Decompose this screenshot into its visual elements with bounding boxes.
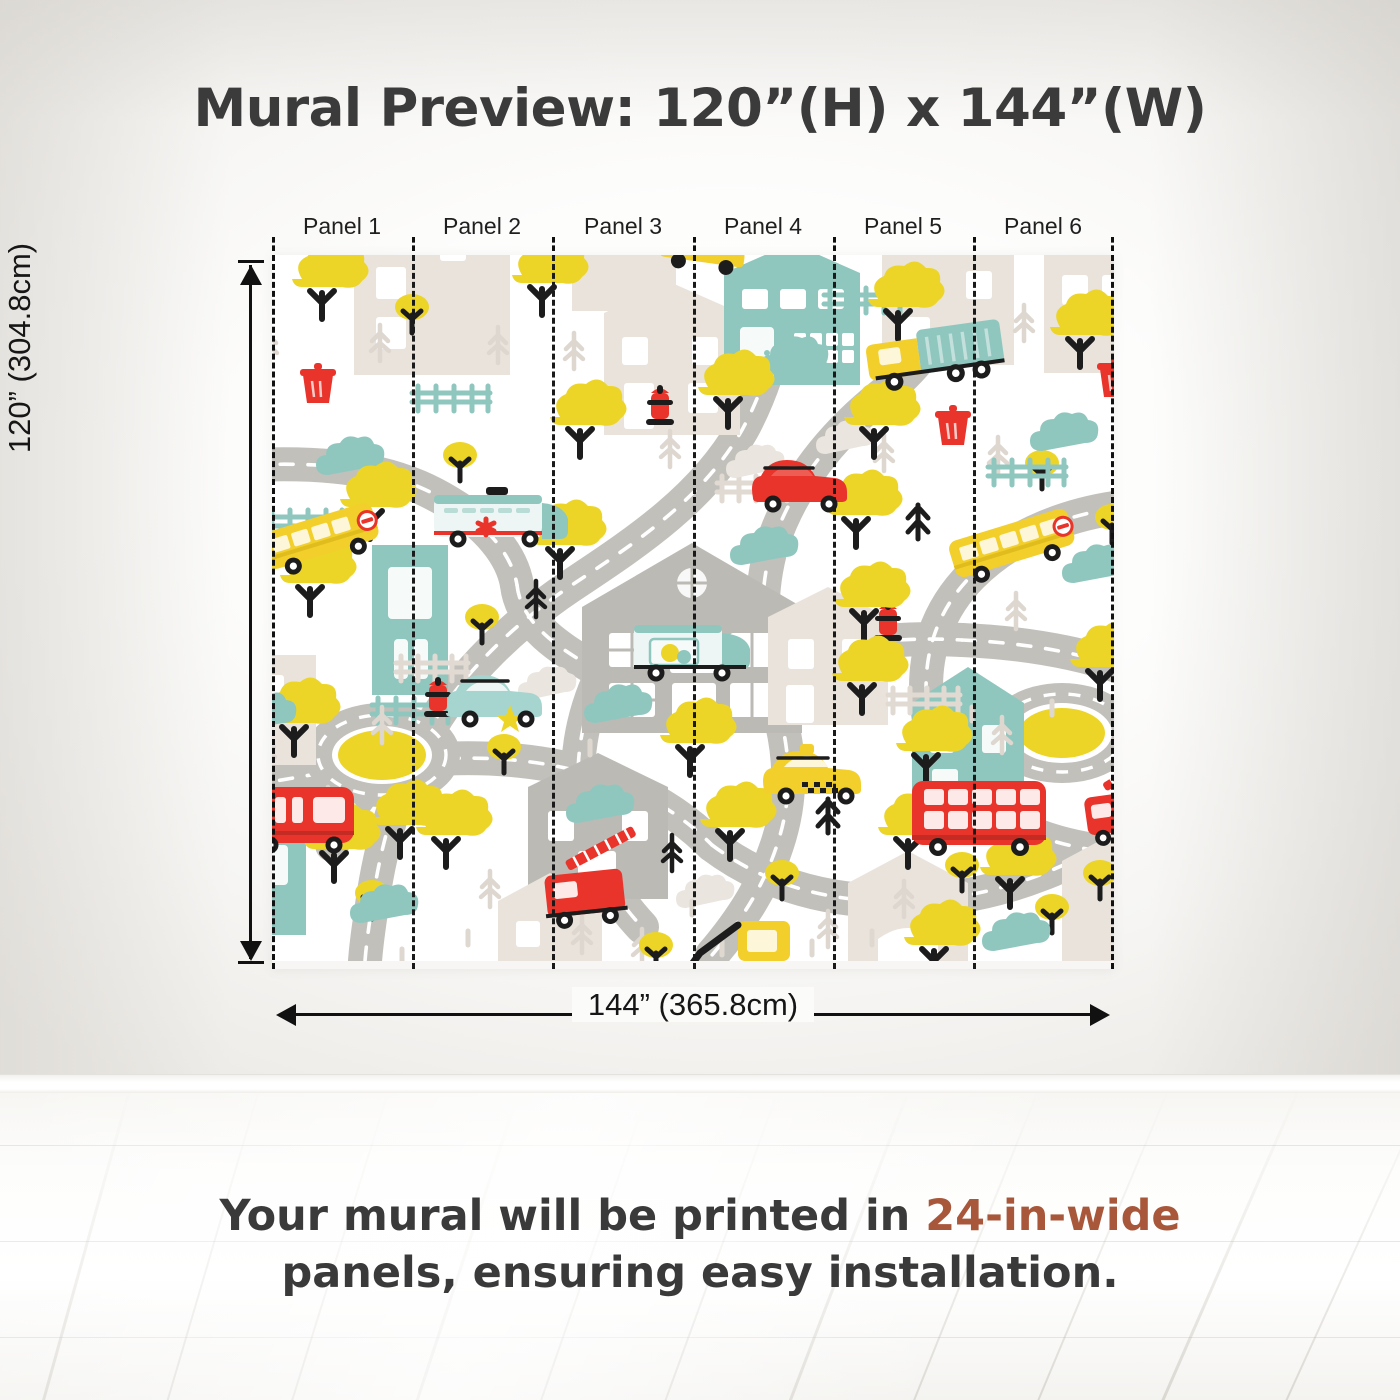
height-tick-bottom — [238, 961, 264, 964]
floor-board-break — [0, 1145, 1400, 1146]
height-dimension-label: 120” (304.8cm) — [2, 198, 38, 498]
height-dimension-line — [232, 255, 236, 969]
width-dimension-line: 144” (365.8cm) — [272, 1013, 1114, 1017]
height-tick-top — [238, 260, 264, 263]
caption-line-2: panels, ensuring easy installation. — [0, 1245, 1400, 1302]
height-line — [249, 265, 252, 959]
floor-board-break — [0, 1337, 1400, 1338]
caption-line-1-prefix: Your mural will be printed in — [219, 1191, 925, 1241]
panel-divider-2 — [552, 255, 555, 969]
panel-divider-5 — [973, 255, 976, 969]
caption: Your mural will be printed in 24-in-wide… — [0, 1188, 1400, 1302]
panel-label-6: Panel 6 — [973, 213, 1113, 240]
wall-shadow-left — [0, 0, 230, 1093]
width-dimension-text: 144” (365.8cm) — [572, 987, 814, 1022]
baseboard — [0, 1074, 1400, 1095]
panel-divider-4 — [833, 255, 836, 969]
wall-shadow-right — [1150, 0, 1400, 1093]
panel-label-2: Panel 2 — [412, 213, 552, 240]
panel-divider-right-edge — [1111, 255, 1114, 969]
caption-accent-text: 24-in-wide — [925, 1191, 1180, 1241]
panel-divider-left-edge — [272, 255, 275, 969]
height-arrow-down-icon — [240, 941, 262, 961]
panel-label-4: Panel 4 — [693, 213, 833, 240]
panel-divider-3 — [693, 255, 696, 969]
panel-label-3: Panel 3 — [553, 213, 693, 240]
mural-preview[interactable]: Panel 1 Panel 2 Panel 3 Panel 4 Panel 5 … — [272, 255, 1114, 969]
page-title: Mural Preview: 120”(H) x 144”(W) — [0, 78, 1400, 139]
width-dimension-label: 144” (365.8cm) — [272, 987, 1114, 1023]
panel-divider-1 — [412, 255, 415, 969]
panel-label-1: Panel 1 — [272, 213, 412, 240]
height-arrow-up-icon — [240, 265, 262, 285]
caption-line-1: Your mural will be printed in 24-in-wide — [0, 1188, 1400, 1245]
panel-label-5: Panel 5 — [833, 213, 973, 240]
